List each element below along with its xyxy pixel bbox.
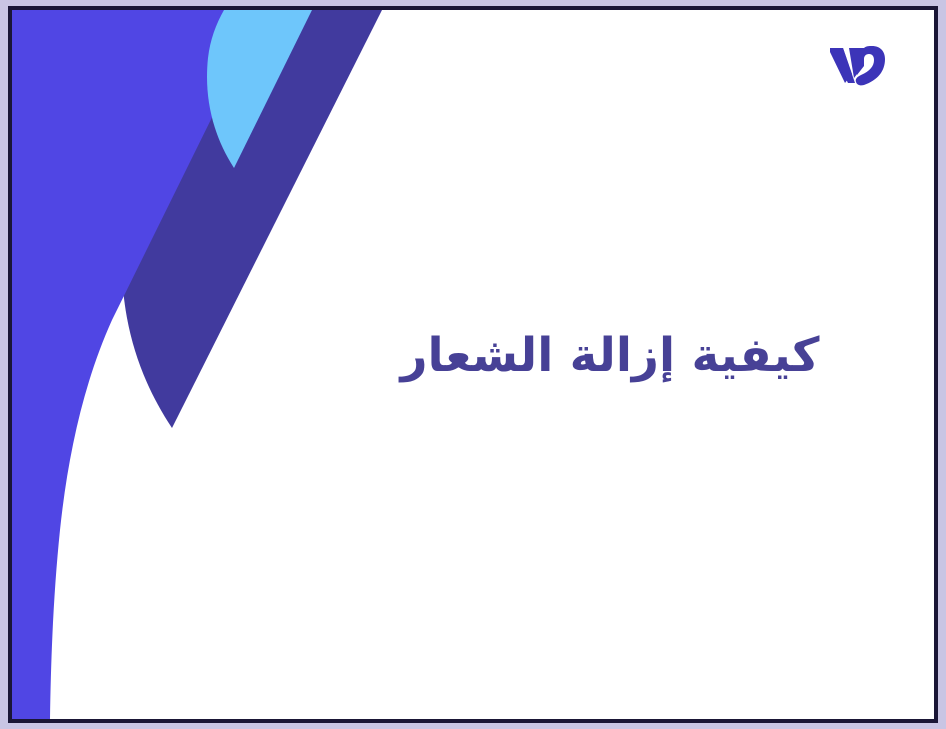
light-blue-leaf-accent [207, 10, 312, 168]
slide-frame-border: كيفية إزالة الشعار [8, 6, 938, 723]
dark-purple-diagonal-band [122, 10, 382, 428]
heading-container: كيفية إزالة الشعار [350, 326, 870, 386]
w-mark-logo-icon [828, 42, 890, 98]
slide-content-area: كيفية إزالة الشعار [12, 10, 934, 719]
blue-angled-panel [12, 10, 265, 719]
page-title: كيفية إزالة الشعار [350, 326, 870, 386]
brand-logo [828, 42, 890, 98]
slide-canvas: كيفية إزالة الشعار [0, 0, 946, 729]
